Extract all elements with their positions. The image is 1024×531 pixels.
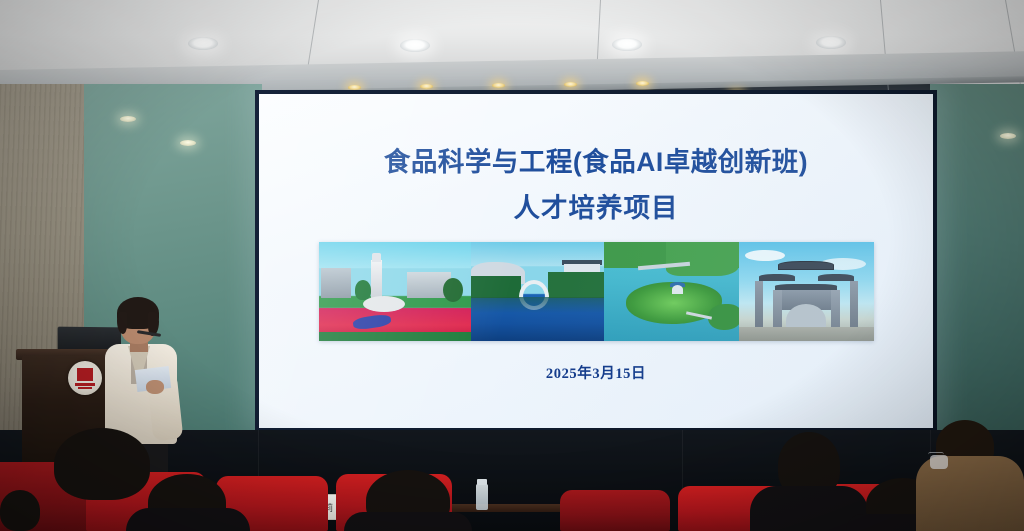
audience-shoulders — [126, 508, 250, 531]
wall-downlight — [1000, 133, 1016, 139]
warm-spotlight — [420, 84, 433, 89]
wall-downlight — [120, 116, 136, 122]
front-table-edge — [440, 504, 570, 512]
audience-head — [0, 490, 40, 531]
ceiling-downlight — [816, 36, 846, 49]
water-bottle — [476, 484, 488, 510]
warm-spotlight — [636, 81, 649, 86]
audience-shoulders — [344, 512, 472, 531]
warm-spotlight — [564, 82, 577, 87]
presenter-hand — [146, 380, 164, 394]
conference-photo-scene: 食品科学与工程(食品AI卓越创新班) 人才培养项目 — [0, 0, 1024, 531]
slide-photo-campus-plaza-flower-beds — [319, 242, 471, 341]
theater-seat — [560, 490, 670, 531]
presentation-slide: 食品科学与工程(食品AI卓越创新班) 人才培养项目 — [259, 94, 933, 428]
slide-photo-strip — [319, 242, 874, 341]
wall-panel-green-right — [930, 84, 1024, 480]
wall-downlight — [180, 140, 196, 146]
university-crest-emblem — [68, 361, 102, 395]
ceiling-downlight — [612, 38, 642, 51]
audience-head — [54, 428, 150, 500]
warm-spotlight — [492, 83, 505, 88]
slide-photo-traditional-paifang-archway — [739, 242, 874, 341]
slide-title: 食品科学与工程(食品AI卓越创新班) — [259, 140, 933, 179]
ceiling-downlight — [400, 39, 430, 52]
slide-photo-aerial-island-park — [604, 242, 739, 341]
ceiling-downlight — [188, 37, 218, 50]
projection-screen: 食品科学与工程(食品AI卓越创新班) 人才培养项目 — [255, 90, 937, 432]
face-mask — [930, 455, 948, 469]
bottle-cap — [477, 479, 487, 485]
slide-subtitle: 人才培养项目 — [259, 186, 933, 225]
presenter-hair-side — [117, 312, 127, 334]
slide-photo-water-town-arch-bridge — [471, 242, 604, 341]
slide-date: 2025年3月15日 — [259, 362, 933, 383]
